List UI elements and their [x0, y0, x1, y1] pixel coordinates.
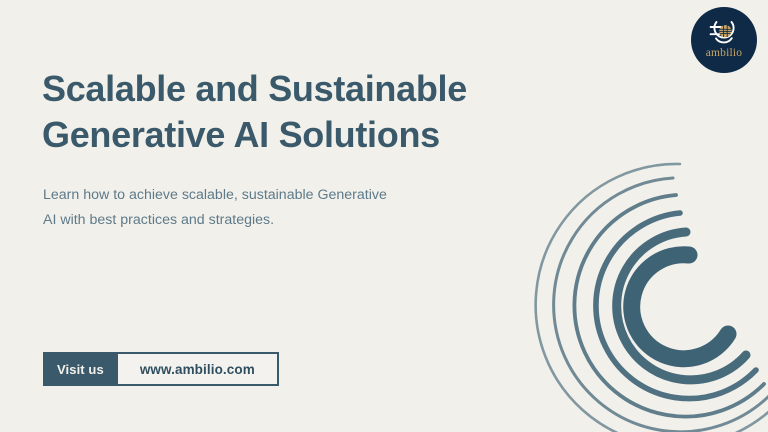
- page-subtitle: Learn how to achieve scalable, sustainab…: [43, 183, 513, 233]
- page-title: Scalable and Sustainable Generative AI S…: [42, 66, 562, 158]
- website-url-link[interactable]: www.ambilio.com: [118, 352, 279, 386]
- concentric-arcs-decoration: [484, 152, 768, 432]
- slide-canvas: ambilio Scalable and Sustainable Generat…: [0, 0, 768, 432]
- visit-us-bar[interactable]: Visit us www.ambilio.com: [43, 352, 279, 386]
- ambilio-logo[interactable]: ambilio: [691, 7, 757, 73]
- visit-us-label: Visit us: [43, 352, 118, 386]
- page-subtitle-line-1: Learn how to achieve scalable, sustainab…: [43, 183, 513, 208]
- page-title-line-2: Generative AI Solutions: [42, 112, 562, 158]
- page-subtitle-line-2: AI with best practices and strategies.: [43, 208, 513, 233]
- ambilio-globe-mark: [707, 16, 741, 46]
- logo-wordmark: ambilio: [706, 47, 743, 59]
- page-title-line-1: Scalable and Sustainable: [42, 66, 562, 112]
